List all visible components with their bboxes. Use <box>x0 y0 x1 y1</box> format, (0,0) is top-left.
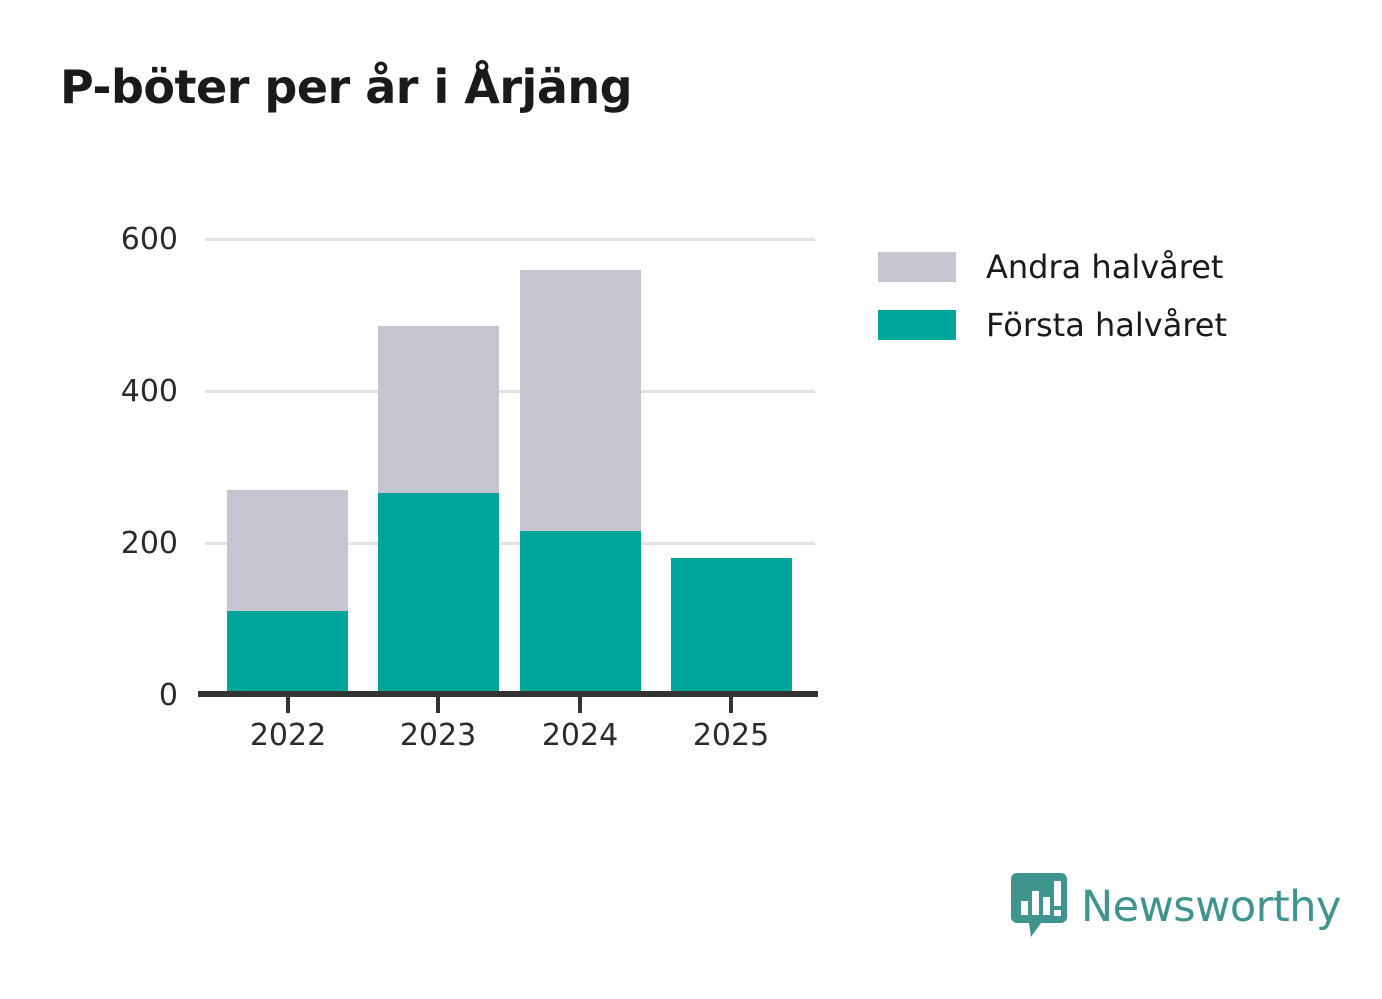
bar-2024-andra-halvaret[interactable] <box>520 270 641 531</box>
x-tick-label-2023: 2023 <box>368 718 508 753</box>
legend-swatch-forsta-halvaret <box>878 310 956 340</box>
newsworthy-logo[interactable]: Newsworthy <box>1011 873 1341 941</box>
chart-plot-area: 600 400 200 0 2022 2023 2024 2025 <box>0 0 1382 999</box>
bar-2023-forsta-halvaret[interactable] <box>378 493 499 694</box>
x-axis-line <box>198 691 818 697</box>
bar-2024-forsta-halvaret[interactable] <box>520 531 641 694</box>
y-tick-label-400: 400 <box>88 374 178 409</box>
gridline-400 <box>205 390 815 393</box>
x-tick-label-2022: 2022 <box>218 718 358 753</box>
y-tick-label-0: 0 <box>88 678 178 713</box>
x-tick-label-2024: 2024 <box>510 718 650 753</box>
bar-2023-andra-halvaret[interactable] <box>378 326 499 493</box>
bar-2022-forsta-halvaret[interactable] <box>227 611 348 694</box>
x-tick-label-2025: 2025 <box>661 718 801 753</box>
x-tick-mark-2024 <box>578 697 582 713</box>
legend-label-forsta-halvaret: Första halvåret <box>986 306 1227 344</box>
bar-2022-andra-halvaret[interactable] <box>227 490 348 611</box>
x-tick-mark-2025 <box>729 697 733 713</box>
gridline-600 <box>205 238 815 241</box>
x-tick-mark-2022 <box>286 697 290 713</box>
chart-bubble-icon <box>1011 873 1067 941</box>
legend-swatch-andra-halvaret <box>878 252 956 282</box>
x-tick-mark-2023 <box>436 697 440 713</box>
legend-item-forsta-halvaret[interactable]: Första halvåret <box>878 296 1227 354</box>
bar-2025-forsta-halvaret[interactable] <box>671 558 792 694</box>
newsworthy-wordmark: Newsworthy <box>1081 882 1341 932</box>
y-tick-label-200: 200 <box>88 526 178 561</box>
chart-legend: Andra halvåret Första halvåret <box>878 238 1227 354</box>
legend-item-andra-halvaret[interactable]: Andra halvåret <box>878 238 1227 296</box>
y-tick-label-600: 600 <box>88 222 178 257</box>
legend-label-andra-halvaret: Andra halvåret <box>986 248 1223 286</box>
